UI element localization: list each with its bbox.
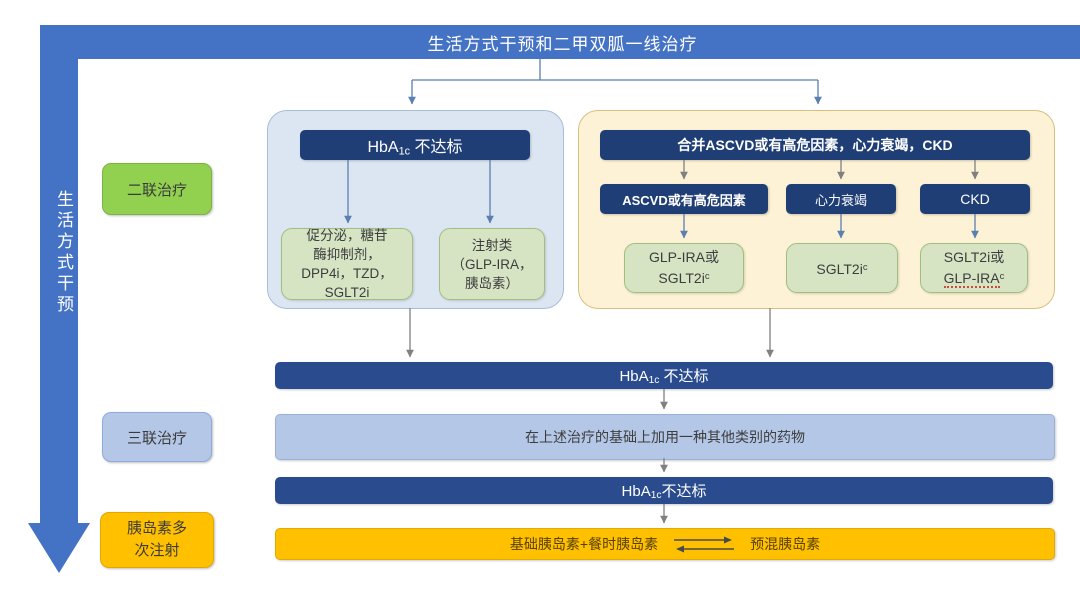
ascvd-drug-text: GLP-IRA或 SGLT2ic: [649, 248, 719, 288]
hba1c-main: HbA: [367, 139, 398, 156]
right-panel-header-comorbidities[interactable]: 合并ASCVD或有高危因素，心力衰竭，CKD: [600, 130, 1030, 160]
ascvd-drug-line-2: SGLT2i: [658, 270, 704, 286]
oral-line-1: 促分泌，糖苷: [306, 228, 387, 243]
lifestyle-intervention-arrow: [28, 25, 90, 573]
triple-therapy-text: 在上述治疗的基础上加用一种其他类别的药物: [525, 427, 805, 447]
hf-drug-superscript: c: [863, 262, 868, 273]
inj-line-3: 胰岛素）: [465, 276, 519, 291]
page-title: 生活方式干预和二甲双胍一线治疗: [428, 30, 698, 55]
hf-drug-text: SGLT2ic: [816, 258, 867, 279]
ckd-drug-superscript: c: [1000, 271, 1005, 282]
bar-triple-therapy-instruction[interactable]: 在上述治疗的基础上加用一种其他类别的药物: [275, 414, 1055, 460]
double-swap-arrow-icon: [672, 534, 736, 554]
insulin-regimen-inner: 基础胰岛素+餐时胰岛素 预混胰岛素: [510, 534, 820, 554]
flowchart-canvas: 生活方式干预和二甲双胍一线治疗 生活方式干预 二联治疗 三联治疗 胰岛素多 次注…: [0, 0, 1080, 598]
stage-chip-insulin-injection[interactable]: 胰岛素多 次注射: [100, 512, 214, 568]
oral-line-4: SGLT2i: [325, 285, 370, 300]
oral-line-3: DPP4i，TZD，: [301, 266, 393, 281]
left-header-text: HbA1c 不达标: [367, 133, 462, 157]
drug-box-oral-agents[interactable]: 促分泌，糖苷 酶抑制剂， DPP4i，TZD， SGLT2i: [281, 228, 413, 300]
oral-agents-text: 促分泌，糖苷 酶抑制剂， DPP4i，TZD， SGLT2i: [301, 226, 393, 302]
drug-box-ckd-recommendation[interactable]: SGLT2i或 GLP-IRAc: [920, 243, 1028, 293]
condition-label-heart-failure: 心力衰竭: [815, 190, 867, 209]
bar3-hba1c-main: HbA: [622, 483, 651, 500]
inj-line-2: （GLP-IRA，: [451, 257, 532, 272]
hf-drug-line-1: SGLT2i: [816, 260, 862, 276]
bar2-hba1c-subscript: 1c: [649, 375, 660, 386]
ckd-drug-line-2: GLP-IRA: [944, 270, 1000, 288]
bar-hba1c-not-at-goal-third[interactable]: HbA1c不达标: [275, 477, 1053, 504]
bar2-hba1c-tail: 不达标: [659, 368, 708, 385]
stage-label-triple: 三联治疗: [127, 427, 187, 448]
ascvd-drug-superscript: c: [705, 271, 710, 282]
right-header-text: 合并ASCVD或有高危因素，心力衰竭，CKD: [677, 135, 952, 155]
ckd-drug-text: SGLT2i或 GLP-IRAc: [944, 248, 1005, 288]
stage-label-insulin-line1: 胰岛素多: [127, 520, 187, 537]
bar-hba1c-third-text: HbA1c不达标: [622, 480, 707, 501]
drug-box-heart-failure-recommendation[interactable]: SGLT2ic: [786, 243, 898, 293]
condition-label-ascvd: ASCVD或有高危因素: [622, 190, 746, 209]
stage-chip-triple-therapy[interactable]: 三联治疗: [102, 412, 212, 462]
stage-label-dual: 二联治疗: [127, 179, 187, 200]
bar-hba1c-second-text: HbA1c 不达标: [619, 365, 708, 386]
insulin-premixed-label: 预混胰岛素: [750, 534, 820, 554]
ckd-drug-line-1: SGLT2i或: [944, 249, 1004, 265]
bar-hba1c-not-at-goal-second[interactable]: HbA1c 不达标: [275, 362, 1053, 389]
bar3-hba1c-subscript: 1c: [651, 490, 662, 501]
bar-insulin-regimen[interactable]: 基础胰岛素+餐时胰岛素 预混胰岛素: [275, 528, 1055, 560]
inj-line-1: 注射类: [472, 238, 513, 253]
stage-chip-dual-therapy[interactable]: 二联治疗: [102, 163, 212, 215]
insulin-basal-plus-prandial-label: 基础胰岛素+餐时胰岛素: [510, 534, 658, 554]
stage-label-insulin: 胰岛素多 次注射: [127, 518, 187, 562]
condition-label-ckd: CKD: [960, 191, 990, 207]
injectables-text: 注射类 （GLP-IRA， 胰岛素）: [451, 236, 532, 293]
hba1c-tail: 不达标: [410, 139, 462, 156]
chart-title-banner: 生活方式干预和二甲双胍一线治疗: [45, 25, 1080, 59]
oral-line-2: 酶抑制剂，: [313, 247, 381, 262]
condition-box-heart-failure[interactable]: 心力衰竭: [786, 184, 896, 214]
hba1c-subscript: 1c: [399, 145, 411, 157]
stage-label-insulin-line2: 次注射: [134, 542, 179, 559]
condition-box-ckd[interactable]: CKD: [920, 184, 1030, 214]
bar2-hba1c-main: HbA: [619, 368, 648, 385]
drug-box-injectables[interactable]: 注射类 （GLP-IRA， 胰岛素）: [439, 228, 545, 300]
condition-box-ascvd[interactable]: ASCVD或有高危因素: [600, 184, 768, 214]
bar3-hba1c-tail: 不达标: [661, 483, 706, 500]
drug-box-ascvd-recommendation[interactable]: GLP-IRA或 SGLT2ic: [624, 243, 744, 293]
left-panel-header-hba1c-not-at-goal[interactable]: HbA1c 不达标: [300, 130, 530, 160]
ascvd-drug-line-1: GLP-IRA或: [649, 249, 719, 265]
